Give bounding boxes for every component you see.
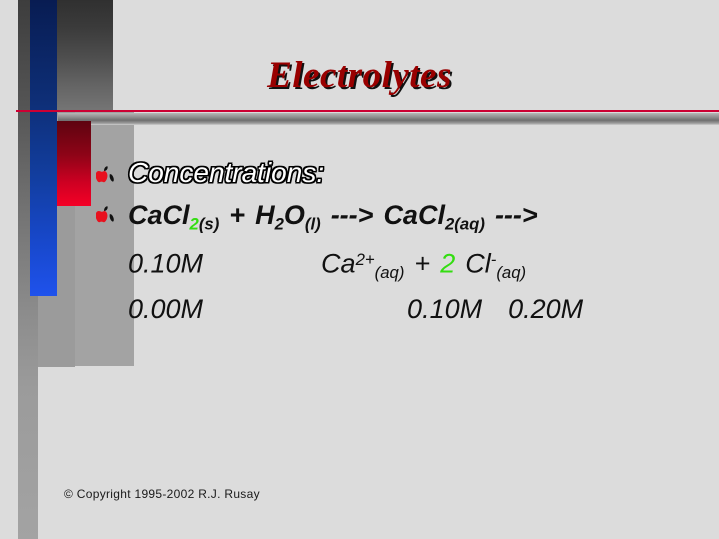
page-title: Electrolytes (0, 54, 719, 97)
bullet-item-concentrations: Concentrations: (96, 155, 711, 191)
decoration-blue-vertical-bar (30, 0, 57, 296)
product-ca: Ca (321, 249, 356, 279)
bullet-item-equation: CaCl2(s)+H2O(l)--->CaCl2(aq)---> 0.10MCa… (96, 197, 711, 327)
reactant-cacl-state: (s) (199, 214, 219, 233)
reactant-o: O (284, 200, 305, 230)
product-cl-coefficient: 2 (440, 249, 455, 279)
values-row-2: 0.00M0.10M0.20M (128, 291, 711, 327)
equation-arrow-2: ---> (495, 200, 538, 230)
product-cl-state: (aq) (496, 263, 526, 282)
equation-plus-1: + (229, 200, 245, 230)
reactant-h-subscript: 2 (275, 214, 284, 233)
intermediate-cacl: CaCl (383, 200, 445, 230)
decoration-horizontal-gray-bar (58, 113, 719, 125)
concentrations-label: Concentrations: (96, 155, 711, 191)
copyright-notice: © Copyright 1995-2002 R.J. Rusay (64, 487, 260, 501)
title-divider-rule (16, 110, 719, 112)
intermediate-state: 2(aq) (445, 214, 485, 233)
reactant-h2o-state: (l) (305, 214, 321, 233)
values-plus: + (414, 249, 430, 279)
equation-line: CaCl2(s)+H2O(l)--->CaCl2(aq)---> (128, 197, 711, 242)
value-cl-final: 0.20M (508, 294, 583, 324)
slide-canvas: Electrolytes Concentrations: (0, 0, 719, 539)
value-ca-final: 0.10M (407, 294, 482, 324)
value-reactant-final: 0.00M (128, 294, 203, 324)
equation-arrow-1: ---> (331, 200, 374, 230)
reactant-h: H (255, 200, 275, 230)
value-reactant-initial: 0.10M (128, 249, 203, 279)
reactant-cacl: CaCl (128, 200, 190, 230)
equation-block: CaCl2(s)+H2O(l)--->CaCl2(aq)---> 0.10MCa… (96, 197, 711, 327)
product-ca-charge: 2+ (356, 250, 375, 269)
product-ca-state: (aq) (375, 263, 405, 282)
reactant-cacl-subscript: 2 (190, 214, 199, 233)
values-row-1: 0.10MCa2+(aq)+2Cl-(aq) (128, 242, 711, 291)
slide-body: Concentrations: CaCl2(s)+H2O(l)--->CaCl2… (96, 155, 711, 327)
product-cl: Cl (465, 249, 491, 279)
